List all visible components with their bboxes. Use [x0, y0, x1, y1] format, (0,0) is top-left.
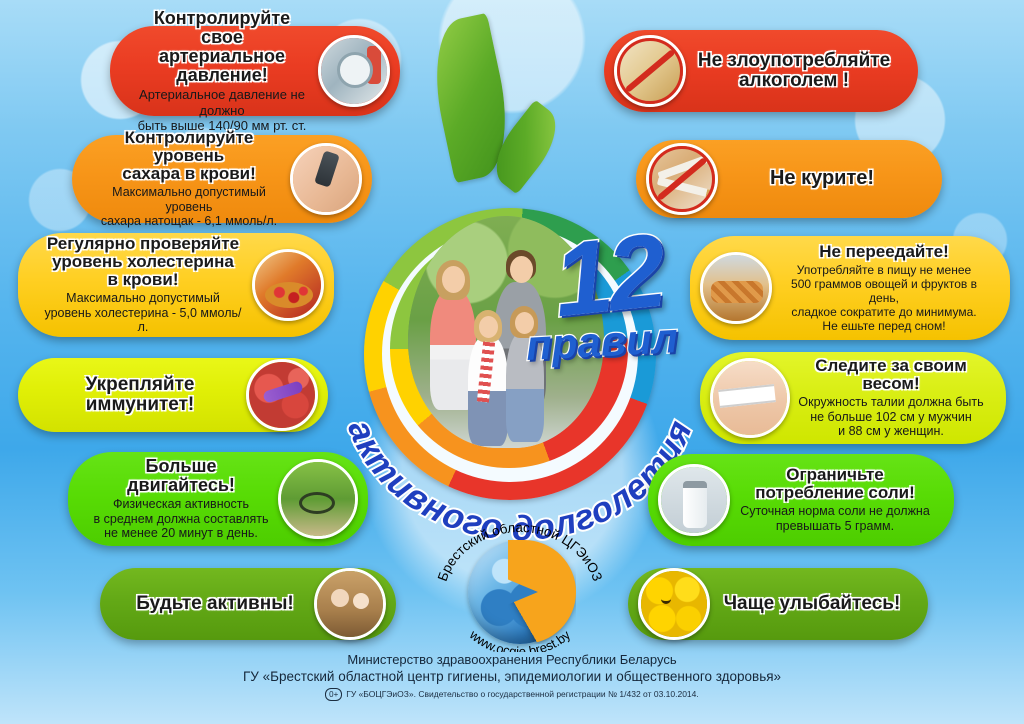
footer: Министерство здравоохранения Республики … [0, 652, 1024, 701]
card-move-more[interactable]: Больше двигайтесь! Физическая активность… [68, 452, 368, 546]
no-alcohol-icon [614, 35, 686, 107]
card-subtitle: Употребляйте в пищу не менее500 граммов … [778, 263, 990, 334]
card-text-group: Будьте активны! [116, 594, 314, 614]
card-title: Укрепляйте иммунитет! [40, 375, 240, 415]
card-cholesterol[interactable]: Регулярно проверяйтеуровень холестеринав… [18, 233, 334, 337]
card-smile-more[interactable]: Чаще улыбайтесь! [628, 568, 928, 640]
card-immunity[interactable]: Укрепляйте иммунитет! [18, 358, 328, 432]
card-text-group: Контролируйте уровеньсахара в крови! Мак… [88, 129, 290, 229]
card-text-group: Ограничьтепотребление соли! Суточная нор… [730, 466, 940, 534]
cholesterol-food-icon [252, 249, 324, 321]
salt-shaker-icon [658, 464, 730, 536]
waist-measure-icon [710, 358, 790, 438]
footer-registration-text: ГУ «БОЦГЭиОЗ». Свидетельство о государст… [346, 689, 699, 699]
card-text-group: Контролируйте своеартериальное давление!… [126, 9, 318, 133]
card-title: Не злоупотребляйтеалкоголем ! [692, 51, 896, 91]
elderly-couple-icon [314, 568, 386, 640]
card-blood-pressure[interactable]: Контролируйте своеартериальное давление!… [110, 26, 400, 116]
mother-head [442, 266, 465, 293]
footer-center-name: ГУ «Брестский областной центр гигиены, э… [0, 669, 1024, 684]
card-title: Регулярно проверяйтеуровень холестеринав… [40, 235, 246, 289]
immune-cells-icon [246, 359, 318, 431]
age-badge: 0+ [325, 688, 342, 701]
card-no-smoking[interactable]: Не курите! [636, 140, 942, 218]
footer-ministry: Министерство здравоохранения Республики … [0, 652, 1024, 667]
card-text-group: Следите за своим весом! Окружность талии… [790, 357, 992, 439]
card-title: Ограничьтепотребление соли! [736, 466, 934, 502]
card-blood-sugar[interactable]: Контролируйте уровеньсахара в крови! Мак… [72, 135, 372, 223]
organization-logo: Брестский областной ЦГЭиОЗ www.ocgie.bre… [432, 524, 608, 652]
smiley-faces-icon [638, 568, 710, 640]
logo-arc-top: Брестский областной ЦГЭиОЗ [435, 524, 605, 583]
card-title: Не курите! [724, 168, 920, 189]
card-subtitle: Артериальное давление не должнобыть выше… [132, 87, 312, 133]
card-text-group: Не курите! [718, 168, 926, 189]
card-subtitle: Окружность талии должна бытьне больше 10… [796, 395, 986, 439]
father-head [510, 256, 533, 283]
card-title: Больше двигайтесь! [90, 457, 272, 495]
health-poster: 12 правил активного долголетия Контролир… [0, 0, 1024, 724]
card-title: Чаще улыбайтесь! [716, 594, 908, 614]
card-watch-weight[interactable]: Следите за своим весом! Окружность талии… [700, 352, 1006, 444]
no-smoking-icon [646, 143, 718, 215]
glucometer-icon [290, 143, 362, 215]
logo-circular-text: Брестский областной ЦГЭиОЗ www.ocgie.bre… [432, 524, 608, 652]
leaf-decoration [400, 8, 630, 208]
card-title: Будьте активны! [122, 594, 308, 614]
card-subtitle: Максимально допустимыйуровень холестерин… [40, 291, 246, 335]
card-be-active[interactable]: Будьте активны! [100, 568, 396, 640]
card-text-group: Больше двигайтесь! Физическая активность… [84, 457, 278, 541]
card-text-group: Не переедайте! Употребляйте в пищу не ме… [772, 243, 996, 334]
food-plate-icon [700, 252, 772, 324]
footer-registration: 0+ГУ «БОЦГЭиОЗ». Свидетельство о государ… [0, 688, 1024, 701]
card-text-group: Чаще улыбайтесь! [710, 594, 914, 614]
card-no-overeating[interactable]: Не переедайте! Употребляйте в пищу не ме… [690, 236, 1010, 340]
card-title: Следите за своим весом! [796, 357, 986, 393]
card-text-group: Укрепляйте иммунитет! [34, 375, 246, 415]
card-no-alcohol[interactable]: Не злоупотребляйтеалкоголем ! [604, 30, 918, 112]
card-subtitle: Максимально допустимый уровеньсахара нат… [94, 185, 284, 229]
card-subtitle: Физическая активностьв среднем должна со… [90, 497, 272, 541]
card-subtitle: Суточная норма соли не должнапревышать 5… [736, 504, 934, 534]
card-title: Не переедайте! [778, 243, 990, 261]
cycling-icon [278, 459, 358, 539]
logo-arc-bottom: www.ocgie.brest.by [466, 627, 573, 652]
card-text-group: Не злоупотребляйтеалкоголем ! [686, 51, 902, 91]
card-limit-salt[interactable]: Ограничьтепотребление соли! Суточная нор… [648, 454, 954, 546]
card-title: Контролируйте уровеньсахара в крови! [94, 129, 284, 183]
card-title: Контролируйте своеартериальное давление! [132, 9, 312, 85]
blood-pressure-monitor-icon [318, 35, 390, 107]
card-text-group: Регулярно проверяйтеуровень холестеринав… [34, 235, 252, 335]
